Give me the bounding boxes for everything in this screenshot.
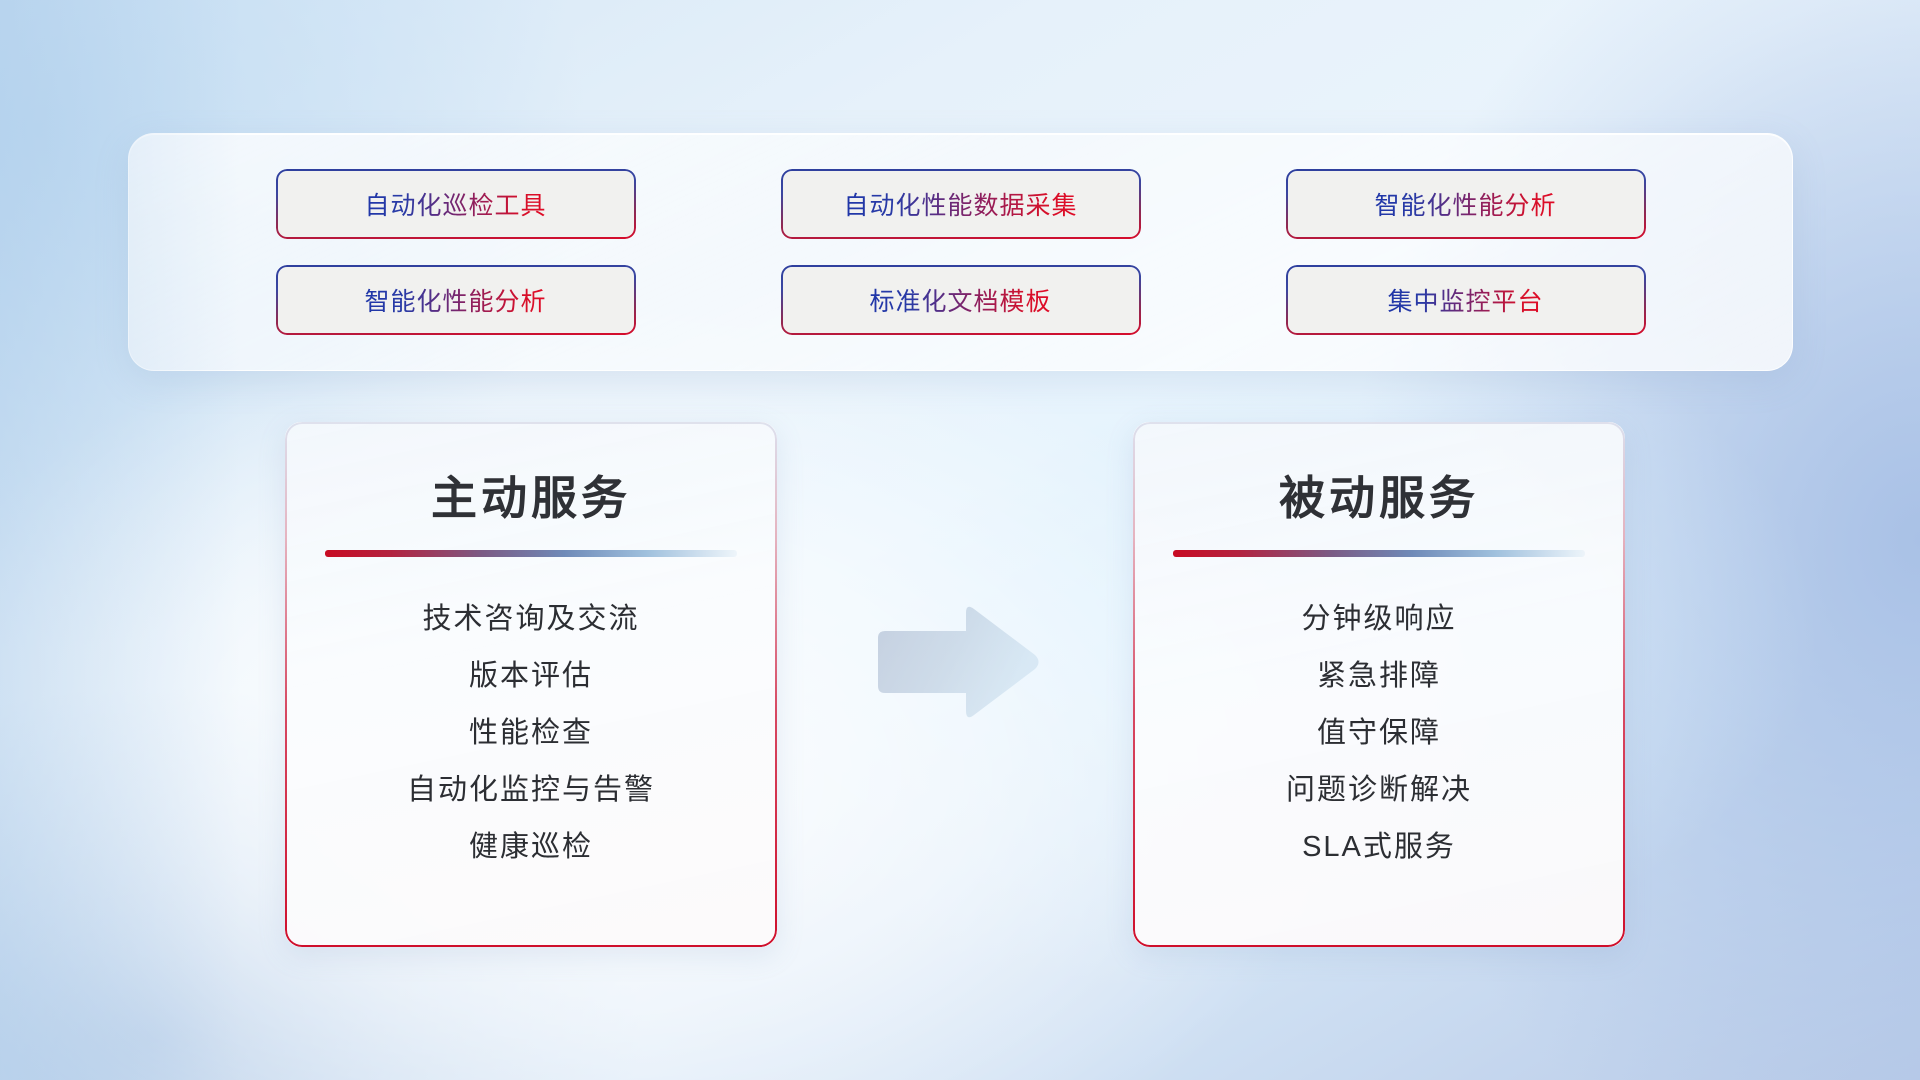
capability-chip[interactable]: 集中监控平台 bbox=[1288, 267, 1644, 333]
service-item: 分钟级响应 bbox=[1135, 591, 1623, 648]
service-item-list: 技术咨询及交流 版本评估 性能检查 自动化监控与告警 健康巡检 bbox=[287, 557, 775, 876]
capability-chip-label: 自动化巡检工具 bbox=[364, 186, 546, 222]
reactive-service-card: 被动服务 分钟级响应 紧急排障 值守保障 问题诊断解决 SLA式服务 bbox=[1133, 422, 1625, 947]
capability-chip-label: 自动化性能数据采集 bbox=[843, 186, 1077, 222]
capability-chip-label: 智能化性能分析 bbox=[364, 282, 546, 318]
service-item: 紧急排障 bbox=[1135, 648, 1623, 705]
service-item: 值守保障 bbox=[1135, 705, 1623, 762]
flow-arrow bbox=[872, 600, 1042, 725]
capability-chip[interactable]: 自动化性能数据采集 bbox=[783, 171, 1139, 237]
service-item: 问题诊断解决 bbox=[1135, 762, 1623, 819]
card-title-rule bbox=[325, 550, 737, 557]
card-title: 被动服务 bbox=[1135, 424, 1623, 528]
card-title-rule bbox=[1173, 550, 1585, 557]
capability-chip-label: 标准化文档模板 bbox=[869, 282, 1051, 318]
capability-chip[interactable]: 标准化文档模板 bbox=[783, 267, 1139, 333]
slide-canvas: 自动化巡检工具 自动化性能数据采集 智能化性能分析 智能化性能分析 标准化文档模… bbox=[0, 0, 1920, 1080]
card-title: 主动服务 bbox=[287, 424, 775, 528]
proactive-service-card: 主动服务 技术咨询及交流 版本评估 性能检查 自动化监控与告警 健康巡检 bbox=[285, 422, 777, 947]
capability-chip[interactable]: 智能化性能分析 bbox=[278, 267, 634, 333]
service-item: SLA式服务 bbox=[1135, 819, 1623, 876]
service-item: 技术咨询及交流 bbox=[287, 591, 775, 648]
capability-chip[interactable]: 自动化巡检工具 bbox=[278, 171, 634, 237]
service-item: 性能检查 bbox=[287, 705, 775, 762]
service-item: 健康巡检 bbox=[287, 819, 775, 876]
capability-chip[interactable]: 智能化性能分析 bbox=[1288, 171, 1644, 237]
service-item: 版本评估 bbox=[287, 648, 775, 705]
capability-chip-label: 智能化性能分析 bbox=[1374, 186, 1556, 222]
capability-chip-label: 集中监控平台 bbox=[1387, 282, 1543, 318]
arrow-right-icon bbox=[878, 607, 1039, 718]
service-item-list: 分钟级响应 紧急排障 值守保障 问题诊断解决 SLA式服务 bbox=[1135, 557, 1623, 876]
service-item: 自动化监控与告警 bbox=[287, 762, 775, 819]
capability-panel: 自动化巡检工具 自动化性能数据采集 智能化性能分析 智能化性能分析 标准化文档模… bbox=[128, 133, 1793, 371]
